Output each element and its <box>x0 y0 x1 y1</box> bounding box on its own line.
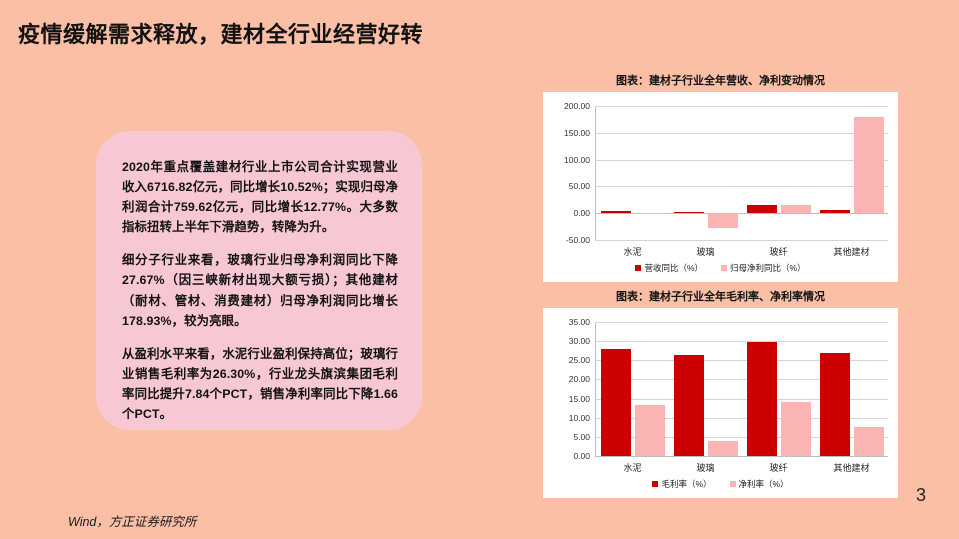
legend-item: 营收同比（%） <box>635 262 703 274</box>
legend-swatch-icon <box>730 481 736 487</box>
bar-group: 玻纤 <box>742 106 815 240</box>
chart-margins-title: 图表：建材子行业全年毛利率、净利率情况 <box>543 288 898 304</box>
legend-margins: 毛利率（%）净利率（%） <box>543 478 898 490</box>
bar <box>674 212 704 213</box>
bar <box>708 213 738 228</box>
gridline: -50.00 <box>595 240 888 241</box>
bar <box>781 205 811 214</box>
bar-group: 其他建材 <box>815 322 888 456</box>
x-axis-tick-label: 玻璃 <box>669 245 742 258</box>
legend-swatch-icon <box>721 265 727 271</box>
bar <box>854 427 884 456</box>
summary-paragraph-1: 2020年重点覆盖建材行业上市公司合计实现营业收入6716.82亿元，同比增长1… <box>122 157 398 237</box>
y-axis-tick-label: 200.00 <box>564 101 590 111</box>
slide: 疫情缓解需求释放，建材全行业经营好转 2020年重点覆盖建材行业上市公司合计实现… <box>0 0 959 539</box>
bar <box>601 211 631 213</box>
bar <box>747 342 777 456</box>
legend-label: 归母净利同比（%） <box>730 262 806 274</box>
bar <box>854 117 884 213</box>
x-axis-tick-label: 玻璃 <box>669 461 742 474</box>
chart-margins-panel: 35.0030.0025.0020.0015.0010.005.000.00水泥… <box>543 308 898 498</box>
y-axis-tick-label: 20.00 <box>569 374 590 384</box>
y-axis-tick-label: 10.00 <box>569 413 590 423</box>
chart-revenue-profit-panel: 200.00150.00100.0050.000.00-50.00水泥玻璃玻纤其… <box>543 92 898 282</box>
bar-group: 水泥 <box>596 106 669 240</box>
plot-area-revenue-profit: 200.00150.00100.0050.000.00-50.00水泥玻璃玻纤其… <box>595 106 888 240</box>
legend-revenue-profit: 营收同比（%）归母净利同比（%） <box>543 262 898 274</box>
bar <box>601 349 631 456</box>
bar <box>708 441 738 456</box>
chart-revenue-profit: 图表：建材子行业全年营收、净利变动情况 200.00150.00100.0050… <box>543 72 898 282</box>
legend-swatch-icon <box>635 265 641 271</box>
source-note: Wind，方正证券研究所 <box>68 511 196 530</box>
y-axis-tick-label: 0.00 <box>573 451 590 461</box>
page-number: 3 <box>916 485 926 506</box>
y-axis-tick-label: 150.00 <box>564 128 590 138</box>
bar-group: 其他建材 <box>815 106 888 240</box>
y-axis-tick-label: 0.00 <box>573 208 590 218</box>
x-axis-tick-label: 水泥 <box>596 461 669 474</box>
legend-label: 营收同比（%） <box>644 262 703 274</box>
bar-groups: 水泥玻璃玻纤其他建材 <box>596 322 888 456</box>
y-axis-tick-label: 5.00 <box>573 432 590 442</box>
bar <box>635 405 665 456</box>
chart-margins: 图表：建材子行业全年毛利率、净利率情况 35.0030.0025.0020.00… <box>543 288 898 498</box>
bar-group: 玻纤 <box>742 322 815 456</box>
plot-area-margins: 35.0030.0025.0020.0015.0010.005.000.00水泥… <box>595 322 888 456</box>
y-axis-tick-label: 15.00 <box>569 394 590 404</box>
bar <box>781 402 811 456</box>
page-title: 疫情缓解需求释放，建材全行业经营好转 <box>18 17 423 49</box>
y-axis-tick-label: 100.00 <box>564 155 590 165</box>
summary-text-card: 2020年重点覆盖建材行业上市公司合计实现营业收入6716.82亿元，同比增长1… <box>96 131 422 430</box>
summary-paragraph-3: 从盈利水平来看，水泥行业盈利保持高位；玻璃行业销售毛利率为26.30%，行业龙头… <box>122 344 398 424</box>
y-axis-tick-label: 50.00 <box>569 181 590 191</box>
x-axis-tick-label: 玻纤 <box>742 245 815 258</box>
legend-label: 毛利率（%） <box>661 478 711 490</box>
y-axis-tick-label: -50.00 <box>566 235 590 245</box>
legend-item: 净利率（%） <box>730 478 789 490</box>
y-axis-tick-label: 25.00 <box>569 355 590 365</box>
bar-group: 水泥 <box>596 322 669 456</box>
bar <box>674 355 704 456</box>
legend-label: 净利率（%） <box>739 478 789 490</box>
y-axis-tick-label: 35.00 <box>569 317 590 327</box>
bar-groups: 水泥玻璃玻纤其他建材 <box>596 106 888 240</box>
bar-group: 玻璃 <box>669 322 742 456</box>
legend-swatch-icon <box>652 481 658 487</box>
bar-group: 玻璃 <box>669 106 742 240</box>
gridline: 0.00 <box>595 456 888 457</box>
legend-item: 毛利率（%） <box>652 478 711 490</box>
x-axis-tick-label: 其他建材 <box>815 461 888 474</box>
bar <box>820 210 850 213</box>
legend-item: 归母净利同比（%） <box>721 262 806 274</box>
y-axis-tick-label: 30.00 <box>569 336 590 346</box>
bar <box>820 353 850 456</box>
x-axis-tick-label: 水泥 <box>596 245 669 258</box>
x-axis-tick-label: 其他建材 <box>815 245 888 258</box>
x-axis-tick-label: 玻纤 <box>742 461 815 474</box>
summary-paragraph-2: 细分子行业来看，玻璃行业归母净利润同比下降27.67%（因三峡新材出现大额亏损）… <box>122 250 398 330</box>
bar <box>747 205 777 213</box>
chart-revenue-profit-title: 图表：建材子行业全年营收、净利变动情况 <box>543 72 898 88</box>
